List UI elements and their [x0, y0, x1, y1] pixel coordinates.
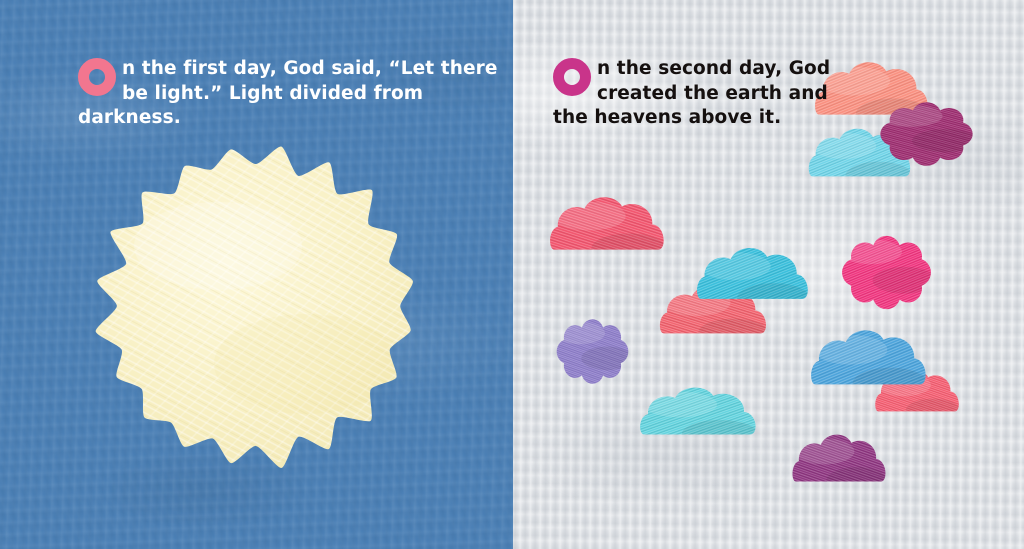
dropcap-o-right	[553, 58, 591, 96]
cloud-turquoise-mid	[694, 243, 812, 307]
cloud-blue-lower	[808, 325, 930, 393]
cloud-hotpink-flower	[835, 231, 938, 314]
left-page-first-day: O n the first day, God said, “Let there …	[0, 0, 513, 549]
left-page-caption: O n the first day, God said, “Let there …	[78, 57, 498, 131]
right-caption-line-3: the heavens above it.	[553, 106, 883, 131]
right-caption-line-1: n the second day, God	[553, 57, 883, 82]
left-caption-line-2: be light.” Light divided from darkness.	[78, 82, 498, 131]
dropcap-o-left	[78, 58, 116, 96]
left-caption-line-1: n the first day, God said, “Let there	[78, 57, 498, 82]
cloud-coral-left	[547, 192, 668, 258]
cloud-lightcyan-bottom	[637, 383, 760, 442]
cloud-darkpurple-bottom	[790, 430, 889, 489]
right-page-caption: O n the second day, God created the eart…	[553, 57, 883, 131]
cloud-magenta-flower	[873, 98, 980, 170]
scalloped-sun	[100, 150, 412, 462]
book-spread: O n the first day, God said, “Let there …	[0, 0, 1024, 549]
cloud-purple-flower	[551, 315, 634, 388]
right-caption-line-2: created the earth and	[553, 82, 883, 107]
